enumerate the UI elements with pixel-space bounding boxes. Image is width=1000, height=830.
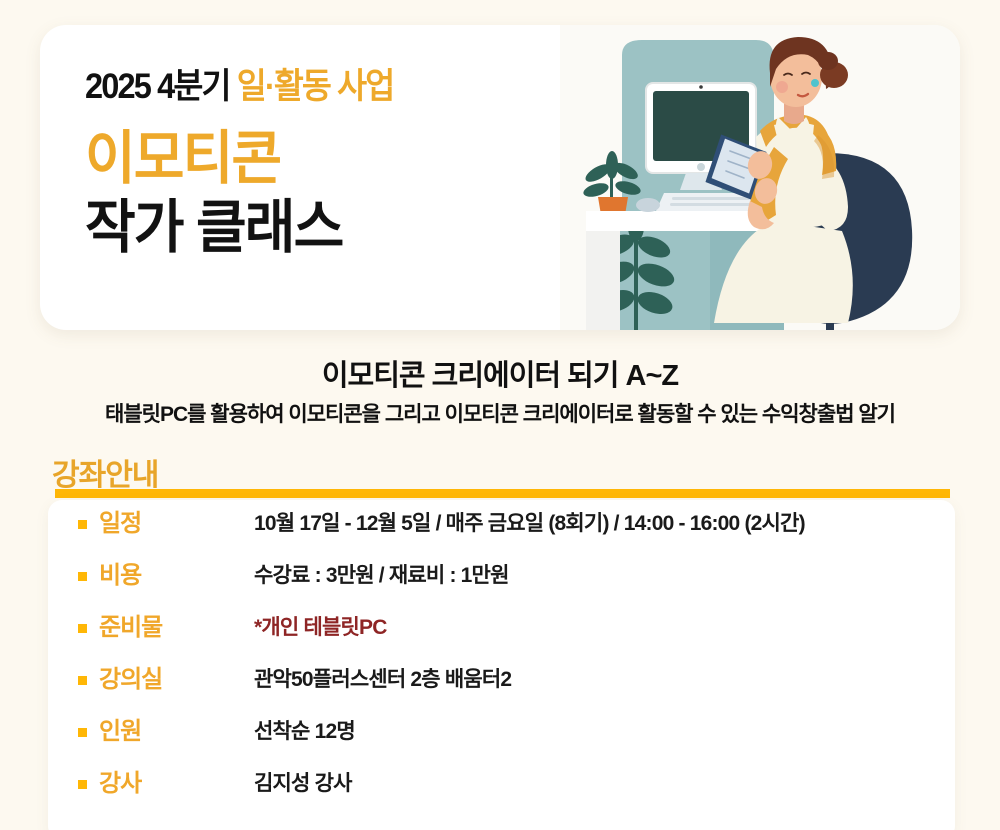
- table-row: 비용 수강료 : 3만원 / 재료비 : 1만원: [48, 560, 955, 612]
- info-row-label: 비용: [99, 560, 254, 592]
- table-row: 강의실 관악50플러스센터 2층 배움터2: [48, 664, 955, 716]
- subtitle-main: 이모티콘 크리에이터 되기 A~Z: [0, 352, 1000, 394]
- hero-kicker: 2025 4분기 일·활동 사업: [85, 69, 393, 104]
- hero-kicker-orange: 일·활동 사업: [237, 67, 394, 106]
- square-bullet-icon: [78, 676, 87, 685]
- table-row: 준비물 *개인 테블릿PC: [48, 612, 955, 664]
- info-row-value: 10월 17일 - 12월 5일 / 매주 금요일 (8회기) / 14:00 …: [254, 508, 805, 541]
- square-bullet-icon: [78, 728, 87, 737]
- info-row-value: 김지성 강사: [254, 768, 352, 801]
- section-heading: 강좌안내: [52, 450, 158, 494]
- info-row-label: 강의실: [99, 664, 254, 696]
- table-row: 일정 10월 17일 - 12월 5일 / 매주 금요일 (8회기) / 14:…: [48, 508, 955, 560]
- hero-card: 2025 4분기 일·활동 사업 이모티콘 작가 클래스: [40, 25, 960, 330]
- info-row-label: 준비물: [99, 612, 254, 644]
- square-bullet-icon: [78, 520, 87, 529]
- info-row-value: 수강료 : 3만원 / 재료비 : 1만원: [254, 560, 509, 593]
- info-row-label: 인원: [99, 716, 254, 748]
- square-bullet-icon: [78, 624, 87, 633]
- hero-title-line1: 이모티콘: [85, 129, 400, 188]
- info-row-value: *개인 테블릿PC: [254, 612, 387, 645]
- info-row-label: 강사: [99, 768, 254, 800]
- hero-kicker-black: 2025 4분기: [85, 67, 230, 106]
- section-underline-bar: [55, 489, 950, 498]
- square-bullet-icon: [78, 780, 87, 789]
- subtitle-description: 태블릿PC를 활용하여 이모티콘을 그리고 이모티콘 크리에이터로 활동할 수 …: [0, 398, 1000, 428]
- info-row-value: 관악50플러스센터 2층 배움터2: [254, 664, 511, 697]
- table-row: 인원 선착순 12명: [48, 716, 955, 768]
- info-row-label: 일정: [99, 508, 254, 540]
- woman-using-tablet-at-desk-illustration: [560, 25, 960, 330]
- hero-title-line2: 작가 클래스: [85, 198, 400, 257]
- table-row: 강사 김지성 강사: [48, 768, 955, 820]
- poster-page: 2025 4분기 일·활동 사업 이모티콘 작가 클래스: [0, 0, 1000, 830]
- info-row-value: 선착순 12명: [254, 716, 355, 749]
- square-bullet-icon: [78, 572, 87, 581]
- hero-text-block: 2025 4분기 일·활동 사업 이모티콘 작가 클래스: [85, 69, 417, 257]
- course-info-card: 일정 10월 17일 - 12월 5일 / 매주 금요일 (8회기) / 14:…: [48, 500, 955, 830]
